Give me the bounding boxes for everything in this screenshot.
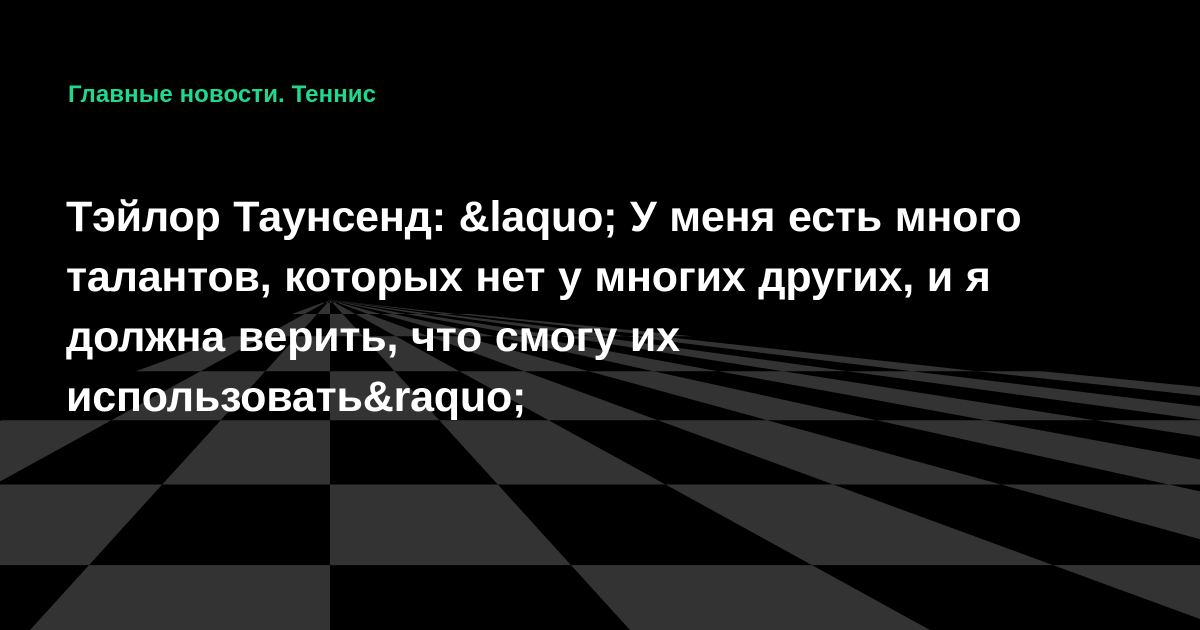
category-kicker: Главные новости. Теннис [68,80,376,110]
headline-title: Тэйлор Таунсенд: &laquo; У меня есть мно… [66,187,1066,427]
news-share-card: Главные новости. Теннис Тэйлор Таунсенд:… [0,0,1200,630]
card-content: Главные новости. Теннис Тэйлор Таунсенд:… [0,0,1200,630]
